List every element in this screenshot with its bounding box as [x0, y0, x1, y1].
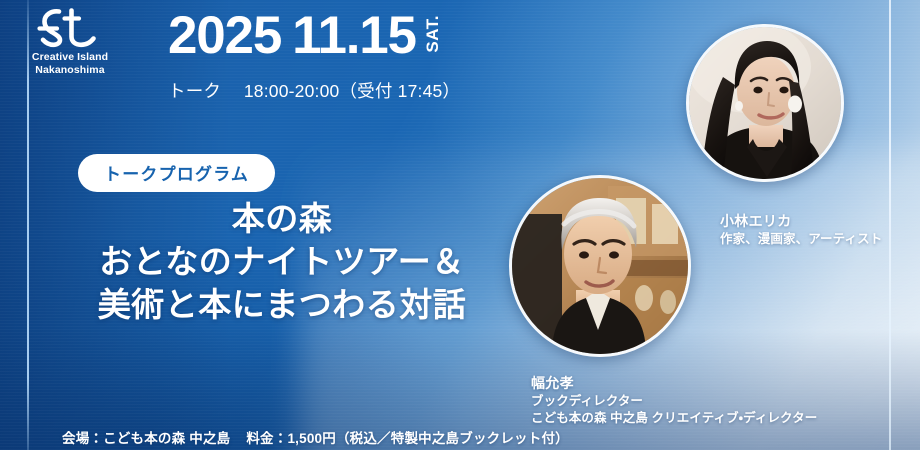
brand-logo-text: Creative Island Nakanoshima: [18, 51, 122, 77]
event-title-line-2: おとなのナイトツアー＆: [62, 241, 502, 284]
creative-island-monogram-icon: [18, 6, 122, 48]
footer-price: 料金：1,500円（税込／特製中之島ブックレット付）: [246, 431, 568, 446]
speaker-role-line-1: 作家、漫画家、アーティスト: [720, 231, 882, 248]
event-date-numeric: 202511.15: [168, 9, 416, 62]
event-date: 202511.15 SAT.: [168, 9, 443, 62]
vertical-rule-right: [889, 0, 891, 450]
event-year: 2025: [168, 6, 281, 65]
event-title: 本の森 おとなのナイトツアー＆ 美術と本にまつわる対話: [62, 198, 502, 327]
speaker-caption-erika: 小林エリカ 作家、漫画家、アーティスト: [720, 212, 882, 248]
speaker-role-line-1: ブックディレクター: [531, 393, 817, 410]
event-title-line-1: 本の森: [62, 198, 502, 241]
speaker-caption-haba: 幅允孝 ブックディレクター こども本の森 中之島 クリエイティブ・ディレクター: [531, 374, 817, 427]
event-footer: 会場：こども本の森 中之島料金：1,500円（税込／特製中之島ブックレット付）: [62, 427, 569, 447]
speaker-name: 小林エリカ: [720, 212, 882, 231]
footer-venue: 会場：こども本の森 中之島: [62, 431, 230, 446]
speaker-role-line-2: こども本の森 中之島 クリエイティブ・ディレクター: [531, 410, 817, 427]
event-weekday: SAT.: [423, 15, 443, 53]
event-monthday: 11.15: [292, 6, 416, 65]
portrait-erika-kobayashi: [686, 24, 844, 182]
event-schedule-line: トーク 18:00-20:00（受付 17:45）: [168, 78, 460, 103]
program-type-badge: トークプログラム: [78, 154, 275, 192]
brand-logo[interactable]: Creative Island Nakanoshima: [18, 6, 122, 77]
event-banner: Creative Island Nakanoshima 202511.15 SA…: [0, 0, 920, 450]
speaker-name: 幅允孝: [531, 374, 817, 393]
portrait-yoshitaka-haba: [509, 175, 691, 357]
event-title-line-3: 美術と本にまつわる対話: [62, 284, 502, 327]
